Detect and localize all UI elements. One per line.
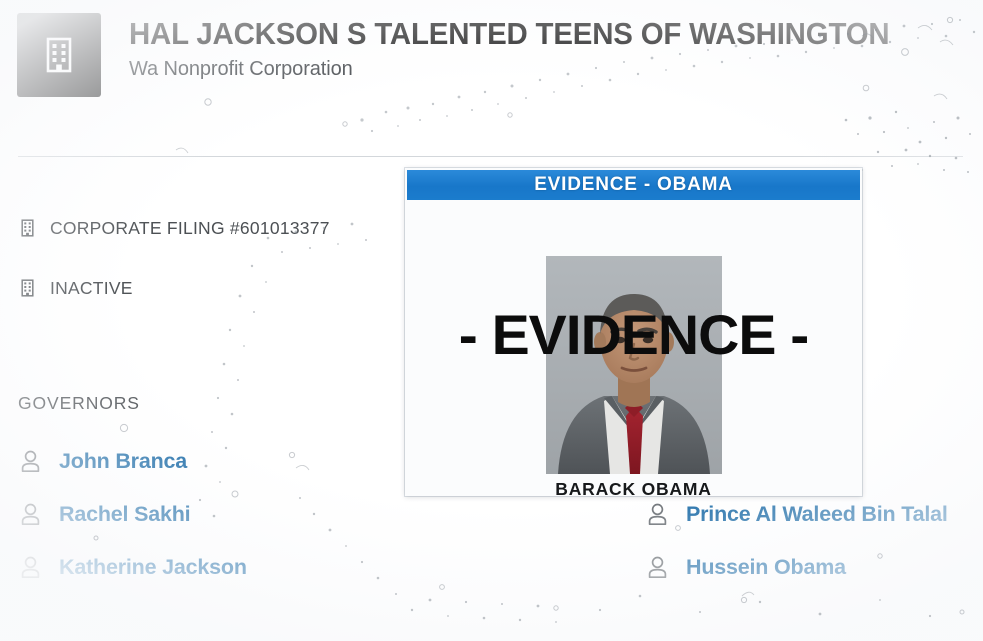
- org-header-text: HAL JACKSON S TALENTED TEENS OF WASHINGT…: [129, 13, 917, 80]
- org-logo-tile: [17, 13, 101, 97]
- page-title: HAL JACKSON S TALENTED TEENS OF WASHINGT…: [129, 18, 889, 51]
- governor-name[interactable]: John Branca: [59, 449, 187, 474]
- person-icon: [645, 554, 669, 580]
- list-item[interactable]: Hussein Obama: [645, 552, 948, 582]
- evidence-card-title: EVIDENCE - OBAMA: [534, 174, 733, 196]
- status-badge: INACTIVE: [50, 278, 133, 299]
- governors-column-left: John Branca Rachel Sakhi Katherine Jacks…: [18, 446, 247, 582]
- list-item[interactable]: Katherine Jackson: [18, 552, 247, 582]
- app-screen: HAL JACKSON S TALENTED TEENS OF WASHINGT…: [0, 0, 983, 641]
- list-item[interactable]: Prince Al Waleed Bin Talal: [645, 499, 948, 529]
- governor-name[interactable]: Hussein Obama: [686, 555, 846, 580]
- person-icon: [18, 554, 42, 580]
- org-subtitle: Wa Nonprofit Corporation: [129, 58, 917, 80]
- governors-heading: GOVERNORS: [18, 393, 140, 414]
- person-icon: [18, 448, 42, 474]
- status-row: INACTIVE: [18, 277, 330, 299]
- person-icon: [645, 501, 669, 527]
- filing-meta-list: CORPORATE FILING #601013377 INACTIVE: [18, 217, 330, 299]
- evidence-card-body: - EVIDENCE - BARACK OBAMA: [405, 200, 862, 496]
- evidence-caption: BARACK OBAMA: [405, 479, 862, 496]
- header-divider: [18, 156, 963, 157]
- evidence-card-titlebar: EVIDENCE - OBAMA: [407, 170, 860, 200]
- building-icon: [42, 35, 76, 75]
- governor-name[interactable]: Prince Al Waleed Bin Talal: [686, 502, 948, 527]
- evidence-card: EVIDENCE - OBAMA: [405, 168, 862, 496]
- filing-number-row: CORPORATE FILING #601013377: [18, 217, 330, 239]
- building-icon: [18, 278, 36, 298]
- evidence-watermark: - EVIDENCE -: [405, 307, 862, 363]
- governor-name[interactable]: Katherine Jackson: [59, 555, 247, 580]
- list-item[interactable]: Rachel Sakhi: [18, 499, 247, 529]
- org-header: HAL JACKSON S TALENTED TEENS OF WASHINGT…: [17, 13, 917, 97]
- person-icon: [18, 501, 42, 527]
- list-item[interactable]: John Branca: [18, 446, 247, 476]
- governor-name[interactable]: Rachel Sakhi: [59, 502, 190, 527]
- building-icon: [18, 218, 36, 238]
- governors-column-right: Prince Al Waleed Bin Talal Hussein Obama: [645, 499, 948, 582]
- filing-number-label: CORPORATE FILING #601013377: [50, 218, 330, 239]
